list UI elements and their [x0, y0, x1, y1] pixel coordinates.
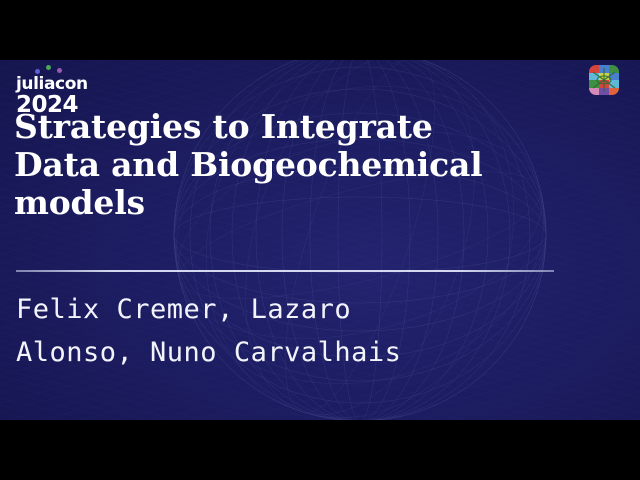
title-authors-divider	[16, 270, 554, 272]
juliacon-wordmark: juliacon	[16, 76, 94, 93]
title-slide: juliacon 2024	[0, 60, 640, 420]
title-line-3: models	[14, 184, 554, 222]
title-line-2: Data and Biogeochemical	[14, 146, 554, 184]
authors-line-1: Felix Cremer, Lazaro	[16, 288, 576, 331]
authors-line-2: Alonso, Nuno Carvalhais	[16, 331, 576, 374]
page-title: Strategies to Integrate Data and Biogeoc…	[14, 108, 554, 222]
institute-logo-icon	[589, 65, 619, 95]
letterbox-bottom	[0, 420, 640, 480]
authors: Felix Cremer, Lazaro Alonso, Nuno Carval…	[16, 288, 576, 374]
title-line-1: Strategies to Integrate	[14, 108, 554, 146]
video-frame: juliacon 2024	[0, 0, 640, 480]
institute-logo	[589, 65, 619, 95]
letterbox-top	[0, 0, 640, 60]
julia-dots-icon	[35, 65, 75, 75]
